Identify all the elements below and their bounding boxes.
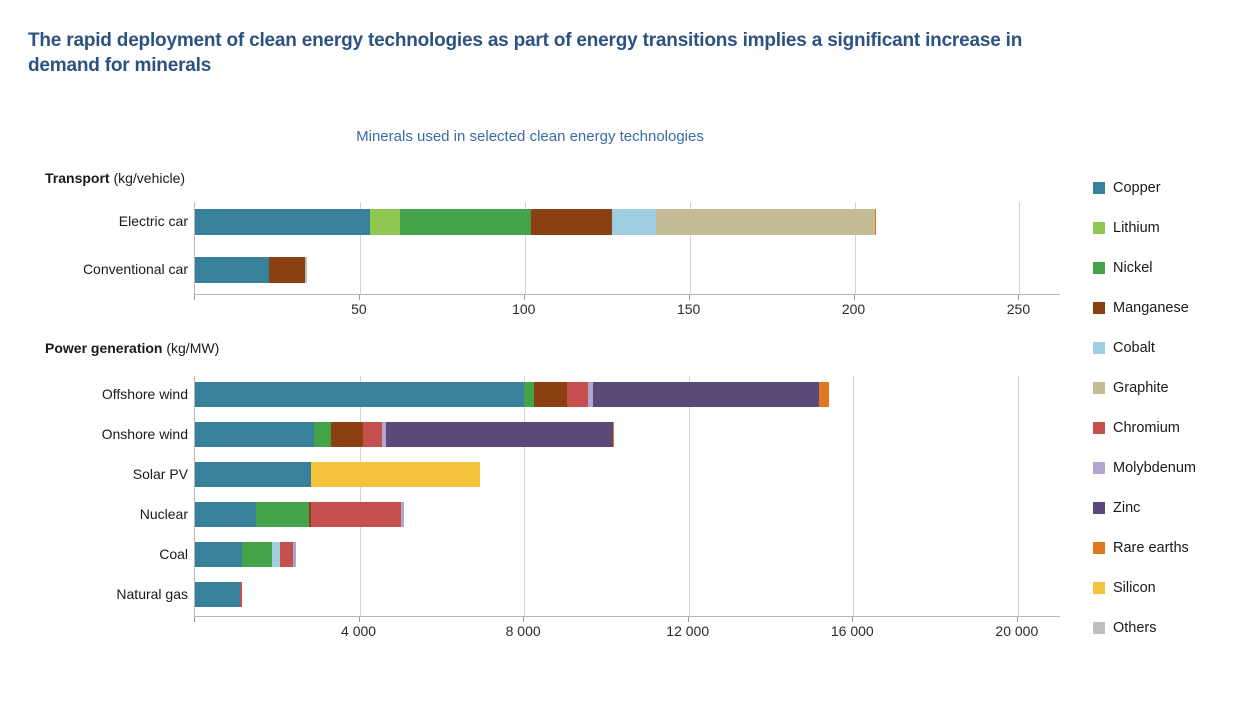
legend-item-label: Others (1113, 620, 1157, 636)
panel-heading-power-generation: Power generation (kg/MW) (45, 340, 219, 356)
legend-item-rare-earths[interactable]: Rare earths (1093, 528, 1250, 568)
legend-item-label: Chromium (1113, 420, 1180, 436)
stacked-bar[interactable] (195, 502, 404, 527)
bar-segment-copper[interactable] (195, 257, 269, 283)
bar-segment-chromium[interactable] (280, 542, 293, 567)
stacked-bar[interactable] (195, 542, 296, 567)
legend-item-cobalt[interactable]: Cobalt (1093, 328, 1250, 368)
legend-item-nickel[interactable]: Nickel (1093, 248, 1250, 288)
x-axis-tick-label: 20 000 (995, 623, 1038, 639)
bar-segment-copper[interactable] (195, 582, 240, 607)
legend-swatch-icon (1093, 462, 1105, 474)
legend-item-silicon[interactable]: Silicon (1093, 568, 1250, 608)
legend-swatch-icon (1093, 342, 1105, 354)
legend-item-label: Silicon (1113, 580, 1156, 596)
bar-segment-nickel[interactable] (524, 382, 534, 407)
stacked-bar[interactable] (195, 209, 876, 235)
x-axis-tick-label: 250 (1007, 301, 1030, 317)
bar-segment-copper[interactable] (195, 422, 314, 447)
bar-segment-zinc[interactable] (593, 382, 819, 407)
category-label-nuclear: Nuclear (140, 506, 188, 522)
legend-item-label: Zinc (1113, 500, 1140, 516)
bar-segment-manganese[interactable] (331, 422, 363, 447)
legend-item-lithium[interactable]: Lithium (1093, 208, 1250, 248)
legend-item-label: Manganese (1113, 300, 1189, 316)
bar-segment-manganese[interactable] (534, 382, 567, 407)
bar-segment-molybdenum[interactable] (401, 502, 404, 527)
x-axis-tick-label: 4 000 (341, 623, 376, 639)
legend-swatch-icon (1093, 422, 1105, 434)
x-axis-tick-label: 150 (677, 301, 700, 317)
legend-item-copper[interactable]: Copper (1093, 168, 1250, 208)
panel-heading-name: Transport (45, 170, 110, 186)
x-axis-tick (1018, 295, 1019, 300)
legend-item-zinc[interactable]: Zinc (1093, 488, 1250, 528)
gridline (524, 376, 525, 616)
bar-segment-chromium[interactable] (311, 502, 401, 527)
x-axis-line (194, 294, 1060, 295)
bar-segment-nickel[interactable] (400, 209, 532, 235)
bar-segment-copper[interactable] (195, 209, 370, 235)
plot-area-power-generation (194, 376, 1059, 616)
bar-segment-others[interactable] (305, 257, 307, 283)
bar-segment-rare-earths[interactable] (613, 422, 614, 447)
legend-item-molybdenum[interactable]: Molybdenum (1093, 448, 1250, 488)
bar-segment-nickel[interactable] (256, 502, 309, 527)
category-label-conventional-car: Conventional car (83, 261, 188, 277)
x-axis-tick (852, 617, 853, 622)
bar-segment-copper[interactable] (195, 382, 524, 407)
panel-heading-name: Power generation (45, 340, 162, 356)
x-axis-tick (524, 295, 525, 300)
x-axis-tick (359, 617, 360, 622)
legend-swatch-icon (1093, 262, 1105, 274)
legend-swatch-icon (1093, 382, 1105, 394)
x-axis-tick (523, 617, 524, 622)
legend-item-label: Molybdenum (1113, 460, 1196, 476)
x-axis-tick (359, 295, 360, 300)
legend-swatch-icon (1093, 182, 1105, 194)
stacked-bar[interactable] (195, 422, 613, 447)
bar-segment-copper[interactable] (195, 542, 242, 567)
x-axis-tick (1017, 617, 1018, 622)
gridline (360, 376, 361, 616)
x-axis-tick-label: 16 000 (831, 623, 874, 639)
legend-item-label: Copper (1113, 180, 1161, 196)
legend-item-graphite[interactable]: Graphite (1093, 368, 1250, 408)
category-label-electric-car: Electric car (119, 213, 188, 229)
legend-swatch-icon (1093, 542, 1105, 554)
legend-item-label: Graphite (1113, 380, 1169, 396)
bar-segment-chromium[interactable] (567, 382, 589, 407)
bar-segment-copper[interactable] (195, 502, 256, 527)
bar-segment-nickel[interactable] (314, 422, 331, 447)
gridline (1019, 202, 1020, 294)
bar-segment-cobalt[interactable] (612, 209, 656, 235)
legend-swatch-icon (1093, 502, 1105, 514)
stacked-bar[interactable] (195, 382, 829, 407)
x-axis-tick-label: 8 000 (506, 623, 541, 639)
legend-item-others[interactable]: Others (1093, 608, 1250, 648)
legend-swatch-icon (1093, 582, 1105, 594)
bar-segment-chromium[interactable] (240, 582, 242, 607)
legend-item-chromium[interactable]: Chromium (1093, 408, 1250, 448)
bar-segment-graphite[interactable] (656, 209, 875, 235)
legend-swatch-icon (1093, 622, 1105, 634)
bar-segment-copper[interactable] (195, 462, 311, 487)
category-label-offshore-wind: Offshore wind (102, 386, 188, 402)
bar-segment-manganese[interactable] (269, 257, 306, 283)
chart-legend: CopperLithiumNickelManganeseCobaltGraphi… (1093, 168, 1250, 648)
x-axis-tick (854, 295, 855, 300)
panel-heading-unit: (kg/vehicle) (113, 170, 185, 186)
legend-swatch-icon (1093, 302, 1105, 314)
x-axis-tick-label: 12 000 (666, 623, 709, 639)
x-axis-tick-label: 50 (351, 301, 367, 317)
gridline (853, 376, 854, 616)
category-label-onshore-wind: Onshore wind (102, 426, 188, 442)
bar-segment-chromium[interactable] (363, 422, 382, 447)
stacked-bar[interactable] (195, 582, 242, 607)
x-axis-tick-label: 200 (842, 301, 865, 317)
bar-segment-rare-earths[interactable] (819, 382, 829, 407)
legend-item-label: Lithium (1113, 220, 1160, 236)
bar-segment-lithium[interactable] (370, 209, 399, 235)
legend-item-label: Nickel (1113, 260, 1152, 276)
legend-swatch-icon (1093, 222, 1105, 234)
x-axis-tick (688, 617, 689, 622)
gridline (689, 376, 690, 616)
bar-segment-molybdenum[interactable] (293, 542, 296, 567)
x-axis-line (194, 616, 1060, 617)
bar-segment-silicon[interactable] (311, 462, 479, 487)
category-label-coal: Coal (159, 546, 188, 562)
x-axis-tick (689, 295, 690, 300)
stacked-bar[interactable] (195, 257, 307, 283)
chart-subtitle: Minerals used in selected clean energy t… (0, 128, 1060, 145)
stacked-bar[interactable] (195, 462, 480, 487)
x-axis-origin-tick (194, 295, 195, 300)
x-axis-origin-tick (194, 617, 195, 622)
category-label-natural-gas: Natural gas (116, 586, 188, 602)
bar-segment-nickel[interactable] (242, 542, 272, 567)
legend-item-manganese[interactable]: Manganese (1093, 288, 1250, 328)
bar-segment-cobalt[interactable] (272, 542, 280, 567)
legend-item-label: Cobalt (1113, 340, 1155, 356)
category-label-solar-pv: Solar PV (133, 466, 188, 482)
page-title: The rapid deployment of clean energy tec… (28, 28, 1038, 78)
bar-segment-zinc[interactable] (386, 422, 612, 447)
panel-heading-unit: (kg/MW) (166, 340, 219, 356)
panel-heading-transport: Transport (kg/vehicle) (45, 170, 185, 186)
gridline (1018, 376, 1019, 616)
bar-segment-manganese[interactable] (531, 209, 612, 235)
bar-segment-rare-earths[interactable] (875, 209, 877, 235)
x-axis-tick-label: 100 (512, 301, 535, 317)
legend-item-label: Rare earths (1113, 540, 1189, 556)
